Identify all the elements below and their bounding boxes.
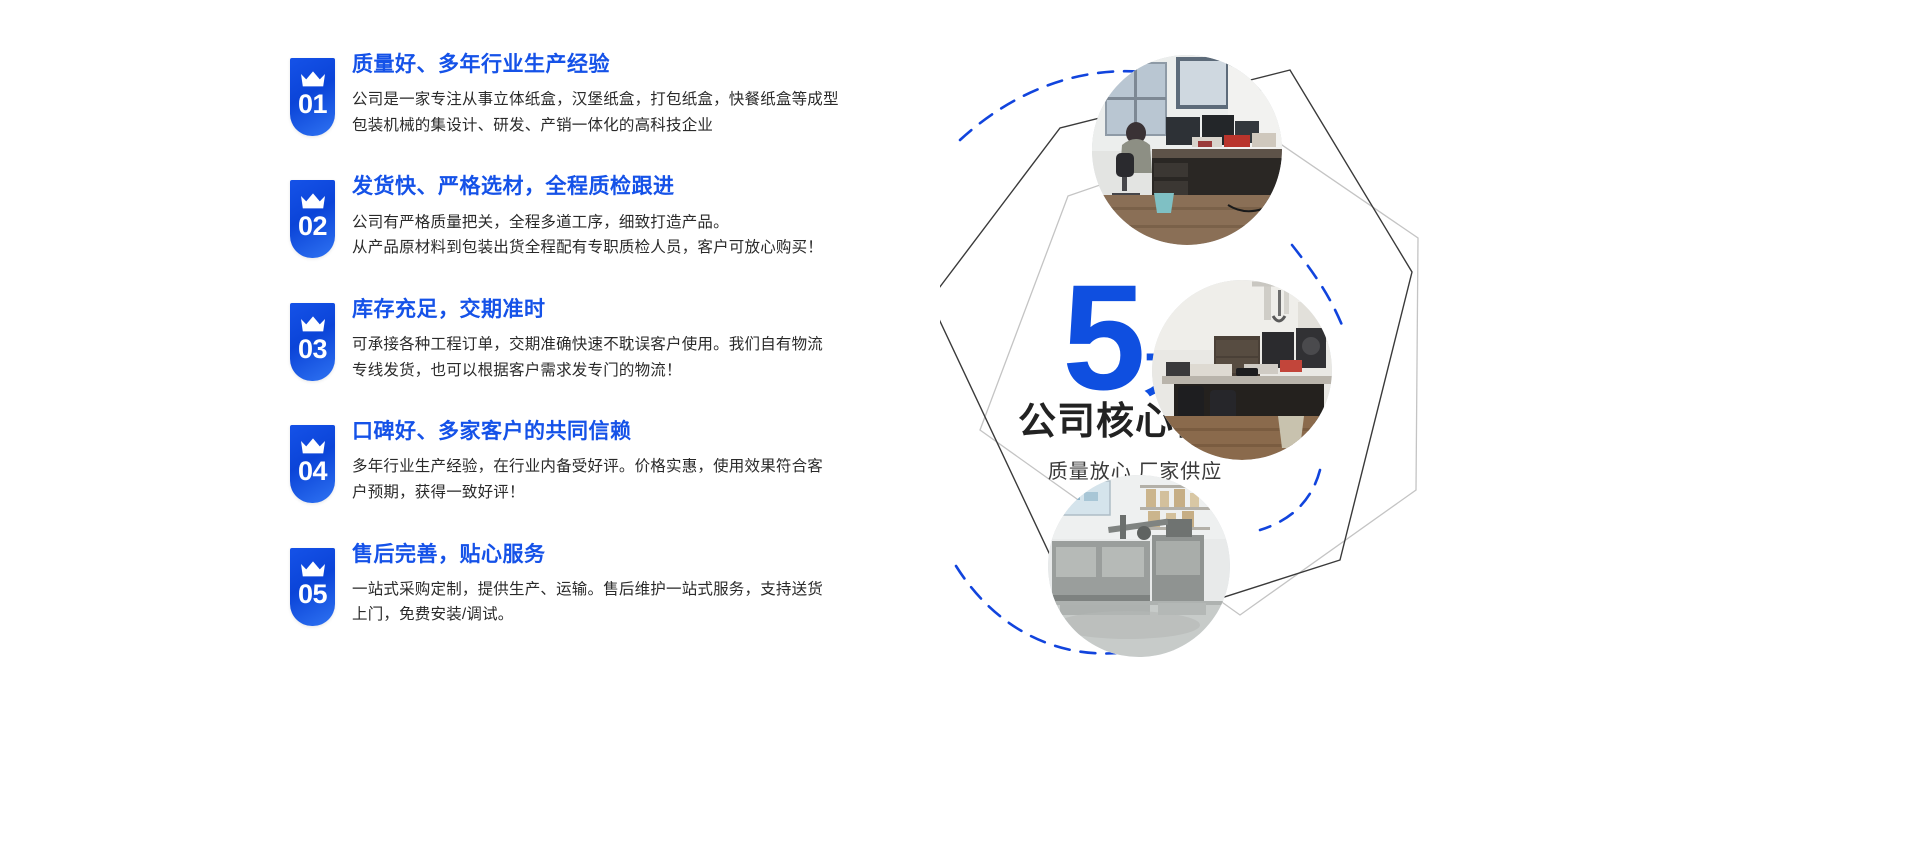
big-number: 5	[1062, 268, 1141, 406]
photo-factory-machinery	[1048, 475, 1230, 657]
feature-desc-line: 包装机械的集设计、研发、产销一体化的高科技企业	[352, 113, 852, 139]
feature-item-05: 05 售后完善，贴心服务 一站式采购定制，提供生产、运输。售后维护一站式服务，支…	[290, 542, 930, 628]
feature-number-02: 02	[290, 213, 335, 240]
feature-title-02: 发货快、严格选材，全程质检跟进	[352, 174, 930, 200]
feature-desc-02: 公司有严格质量把关，全程多道工序，细致打造产品。 从产品原材料到包装出货全程配有…	[352, 210, 852, 261]
feature-desc-line: 公司有严格质量把关，全程多道工序，细致打造产品。	[352, 210, 852, 236]
feature-list: 01 质量好、多年行业生产经验 公司是一家专注从事立体纸盒，汉堡纸盒，打包纸盒，…	[290, 52, 930, 628]
feature-badge-04: 04	[290, 425, 335, 503]
feature-title-03: 库存充足，交期准时	[352, 297, 930, 323]
feature-number-03: 03	[290, 336, 335, 363]
feature-title-01: 质量好、多年行业生产经验	[352, 52, 930, 78]
feature-desc-line: 专线发货，也可以根据客户需求发专门的物流！	[352, 358, 852, 384]
feature-desc-03: 可承接各种工程订单，交期准确快速不耽误客户使用。我们自有物流 专线发货，也可以根…	[352, 332, 852, 383]
feature-badge-05: 05	[290, 548, 335, 626]
feature-number-01: 01	[290, 91, 335, 118]
feature-badge-01: 01	[290, 58, 335, 136]
photo-office-desks	[1152, 280, 1332, 460]
feature-title-04: 口碑好、多家客户的共同信赖	[352, 419, 930, 445]
hero-graphic: 5大 公司核心优势 质量放心 厂家供应	[940, 0, 1920, 847]
feature-badge-02: 02	[290, 180, 335, 258]
feature-desc-line: 可承接各种工程订单，交期准确快速不耽误客户使用。我们自有物流	[352, 332, 852, 358]
feature-desc-01: 公司是一家专注从事立体纸盒，汉堡纸盒，打包纸盒，快餐纸盒等成型 包装机械的集设计…	[352, 87, 852, 138]
feature-item-02: 02 发货快、严格选材，全程质检跟进 公司有严格质量把关，全程多道工序，细致打造…	[290, 174, 930, 260]
crown-icon	[300, 560, 326, 578]
feature-desc-line: 公司是一家专注从事立体纸盒，汉堡纸盒，打包纸盒，快餐纸盒等成型	[352, 87, 852, 113]
feature-title-05: 售后完善，贴心服务	[352, 542, 930, 568]
crown-icon	[300, 315, 326, 333]
promo-banner: 01 质量好、多年行业生产经验 公司是一家专注从事立体纸盒，汉堡纸盒，打包纸盒，…	[0, 0, 1920, 847]
feature-desc-line: 上门，免费安装/调试。	[352, 602, 852, 628]
feature-desc-04: 多年行业生产经验，在行业内备受好评。价格实惠，使用效果符合客 户预期，获得一致好…	[352, 454, 852, 505]
feature-number-04: 04	[290, 458, 335, 485]
photo-office-workstation	[1092, 55, 1282, 245]
crown-icon	[300, 192, 326, 210]
feature-desc-line: 从产品原材料到包装出货全程配有专职质检人员，客户可放心购买！	[352, 235, 852, 261]
feature-number-05: 05	[290, 581, 335, 608]
feature-badge-03: 03	[290, 303, 335, 381]
crown-icon	[300, 437, 326, 455]
feature-item-03: 03 库存充足，交期准时 可承接各种工程订单，交期准确快速不耽误客户使用。我们自…	[290, 297, 930, 383]
feature-desc-05: 一站式采购定制，提供生产、运输。售后维护一站式服务，支持送货 上门，免费安装/调…	[352, 577, 852, 628]
feature-item-04: 04 口碑好、多家客户的共同信赖 多年行业生产经验，在行业内备受好评。价格实惠，…	[290, 419, 930, 505]
feature-desc-line: 多年行业生产经验，在行业内备受好评。价格实惠，使用效果符合客	[352, 454, 852, 480]
feature-item-01: 01 质量好、多年行业生产经验 公司是一家专注从事立体纸盒，汉堡纸盒，打包纸盒，…	[290, 52, 930, 138]
feature-desc-line: 一站式采购定制，提供生产、运输。售后维护一站式服务，支持送货	[352, 577, 852, 603]
feature-desc-line: 户预期，获得一致好评！	[352, 480, 852, 506]
crown-icon	[300, 70, 326, 88]
